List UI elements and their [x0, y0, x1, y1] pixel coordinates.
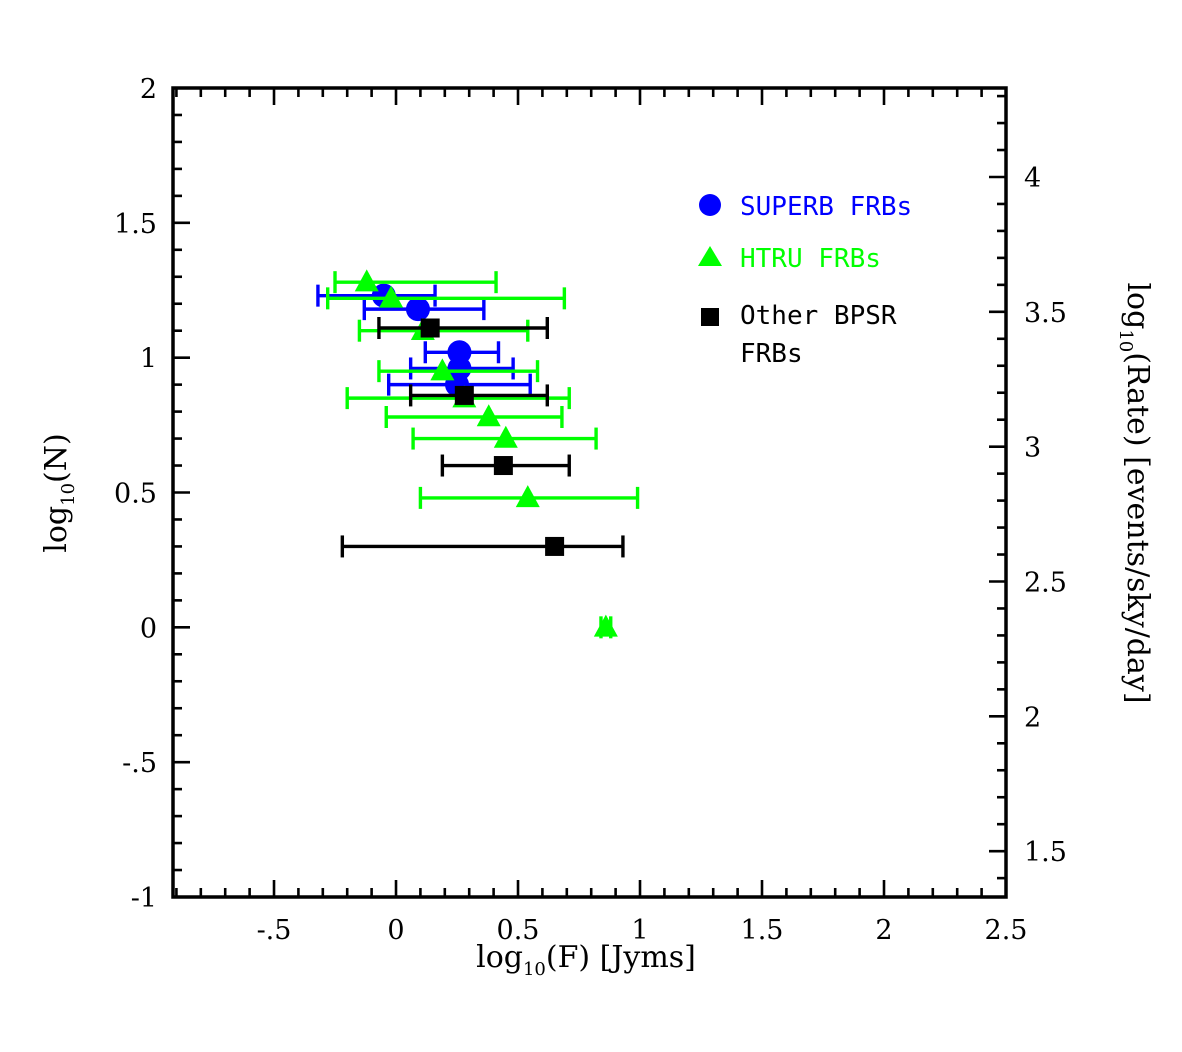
- legend-label-other-line2: FRBs: [740, 339, 803, 369]
- data-point-circle[interactable]: [406, 297, 430, 321]
- data-points-layer: [318, 269, 638, 638]
- y-right-axis-title-log: log: [1120, 282, 1155, 329]
- data-point-triangle[interactable]: [594, 615, 618, 637]
- y-tick-label: 2: [140, 74, 157, 105]
- error-bar: [359, 320, 527, 342]
- x-tick-label: 2: [875, 915, 892, 946]
- y-tick-label: -1: [131, 883, 157, 914]
- axis-tick-labels: -.500.511.522.5-1-.500.511.521.522.533.5…: [114, 74, 1067, 946]
- y-right-tick-label: 3.5: [1024, 298, 1067, 329]
- y-tick-label: 0.5: [114, 479, 157, 510]
- error-bar: [386, 406, 562, 428]
- x-axis-title-rest: (F) [Jyms]: [546, 940, 696, 975]
- data-point-square[interactable]: [545, 537, 564, 556]
- figure-canvas: -.500.511.522.5-1-.500.511.521.522.533.5…: [0, 0, 1182, 1052]
- x-tick-label: 0: [387, 915, 404, 946]
- legend-label-superb: SUPERB FRBs: [740, 192, 912, 222]
- series-htru-frbs: [328, 269, 638, 638]
- legend: SUPERB FRBs HTRU FRBs Other BPSR FRBs: [698, 192, 912, 369]
- data-point-square[interactable]: [455, 386, 474, 405]
- y-right-axis-title-sub: 10: [1115, 329, 1136, 352]
- x-axis-title: log10(F) [Jyms]: [476, 940, 696, 980]
- error-bar: [379, 317, 547, 339]
- series-superb-frbs: [318, 284, 530, 397]
- y-right-tick-label: 4: [1024, 163, 1041, 194]
- legend-label-htru: HTRU FRBs: [740, 244, 881, 274]
- scatter-plot: -.500.511.522.5-1-.500.511.521.522.533.5…: [0, 0, 1182, 1052]
- x-tick-label: 2.5: [985, 915, 1028, 946]
- data-point-triangle[interactable]: [516, 485, 540, 507]
- y-tick-label: 1: [140, 344, 157, 375]
- x-tick-label: -.5: [257, 915, 292, 946]
- data-point-triangle[interactable]: [477, 404, 501, 426]
- y-right-axis-title: log10(Rate) [events/sky/day]: [1115, 282, 1155, 703]
- y-tick-label: 1.5: [114, 209, 157, 240]
- legend-marker-circle: [699, 194, 721, 216]
- y-axis-title-rest: (N): [39, 433, 74, 483]
- legend-label-other: Other BPSR: [740, 301, 897, 331]
- data-point-triangle[interactable]: [355, 269, 379, 291]
- x-tick-label: 1.5: [741, 915, 784, 946]
- y-tick-label: -.5: [122, 748, 157, 779]
- data-point-triangle[interactable]: [494, 426, 518, 448]
- legend-marker-triangle: [698, 246, 722, 266]
- y-right-tick-label: 2.5: [1024, 567, 1067, 598]
- y-right-tick-label: 1.5: [1024, 837, 1067, 868]
- legend-marker-square: [701, 308, 719, 326]
- y-axis-title: log10(N): [39, 433, 79, 552]
- error-bar: [342, 535, 623, 557]
- y-tick-label: 0: [140, 613, 157, 644]
- y-axis-title-sub: 10: [58, 483, 79, 506]
- y-right-axis-title-rest: (Rate) [events/sky/day]: [1120, 352, 1155, 703]
- y-right-tick-label: 3: [1024, 433, 1041, 464]
- x-axis-title-log: log: [476, 940, 523, 975]
- y-axis-title-log: log: [39, 506, 74, 553]
- x-axis-title-sub: 10: [523, 959, 546, 980]
- error-bar: [411, 384, 548, 406]
- data-point-square[interactable]: [494, 456, 513, 475]
- y-right-tick-label: 2: [1024, 702, 1041, 733]
- data-point-square[interactable]: [421, 319, 440, 338]
